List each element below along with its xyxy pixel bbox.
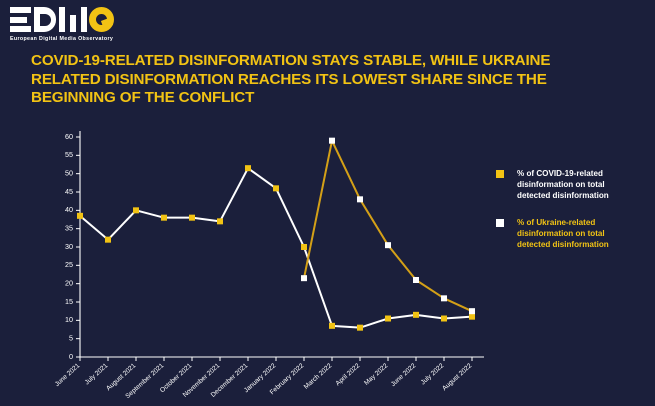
series-marker-0 [105,237,111,243]
series-marker-0 [413,312,419,318]
page-title-line-3: BEGINNING OF THE CONFLICT [31,89,611,108]
series-marker-1 [301,275,307,281]
y-tick-label: 20 [65,279,73,288]
series-line-1 [304,141,472,312]
chart-series-lines [80,141,472,328]
y-tick-label: 55 [65,150,73,159]
series-marker-0 [133,207,139,213]
x-tick-label: July 2022 [420,362,446,386]
y-tick-label: 10 [65,315,73,324]
logo-letter-o-icon [89,7,114,32]
series-marker-1 [413,277,419,283]
x-axis-labels: June 2021July 2021August 2021September 2… [54,362,474,400]
page-title-line-1: COVID-19-RELATED DISINFORMATION STAYS ST… [31,52,611,71]
legend-item-covid: % of COVID-19-related disinformation on … [496,168,651,202]
series-marker-0 [469,314,475,320]
chart-plot-area: 051015202530354045505560 June 2021July 2… [0,120,500,406]
chart-series-markers [77,138,475,331]
line-chart: 051015202530354045505560 June 2021July 2… [0,120,500,406]
logo-letter-e-icon [10,7,31,32]
y-tick-label: 45 [65,187,73,196]
series-marker-0 [161,215,167,221]
x-axis-ticks [80,357,472,361]
series-marker-0 [385,316,391,322]
y-tick-label: 60 [65,132,73,141]
page-title: COVID-19-RELATED DISINFORMATION STAYS ST… [31,52,611,108]
series-marker-0 [77,213,83,219]
legend-label-ukraine: % of Ukraine-related disinformation on t… [517,217,609,251]
series-marker-1 [441,295,447,301]
logo-letter-d-icon [34,7,56,32]
x-tick-label: May 2022 [363,362,389,387]
series-marker-1 [469,308,475,314]
x-tick-label: August 2022 [441,362,473,392]
legend-item-ukraine: % of Ukraine-related disinformation on t… [496,217,651,251]
page-title-line-2: RELATED DISINFORMATION REACHES ITS LOWES… [31,71,611,90]
series-marker-0 [441,316,447,322]
y-tick-label: 25 [65,260,73,269]
series-marker-1 [329,138,335,144]
y-tick-label: 0 [69,352,73,361]
x-tick-label: June 2021 [54,362,82,388]
series-marker-0 [329,323,335,329]
series-marker-0 [217,218,223,224]
legend-label-covid: % of COVID-19-related disinformation on … [517,168,609,202]
logo-letter-m-icon [59,7,87,32]
y-tick-label: 40 [65,205,73,214]
x-tick-label: April 2022 [335,362,362,387]
series-marker-0 [301,244,307,250]
legend-swatch-covid-icon [496,170,504,178]
series-marker-0 [357,325,363,331]
series-marker-0 [273,185,279,191]
y-axis-ticks: 051015202530354045505560 [65,132,80,361]
y-tick-label: 50 [65,169,73,178]
series-marker-0 [189,215,195,221]
legend-swatch-ukraine-icon [496,219,504,227]
edmo-logo: European Digital Media Observatory [10,6,200,46]
series-marker-0 [245,165,251,171]
y-tick-label: 35 [65,224,73,233]
logo-tagline: European Digital Media Observatory [10,36,200,42]
edmo-logo-mark [10,6,200,33]
chart-legend: % of COVID-19-related disinformation on … [496,168,651,265]
series-line-0 [80,168,472,328]
x-tick-label: March 2022 [303,362,334,391]
x-tick-label: July 2021 [84,362,110,386]
y-tick-label: 30 [65,242,73,251]
y-tick-label: 15 [65,297,73,306]
y-tick-label: 5 [69,334,73,343]
series-marker-1 [385,242,391,248]
x-tick-label: June 2022 [390,362,418,388]
slide-canvas: European Digital Media Observatory COVID… [0,0,655,406]
series-marker-1 [357,196,363,202]
